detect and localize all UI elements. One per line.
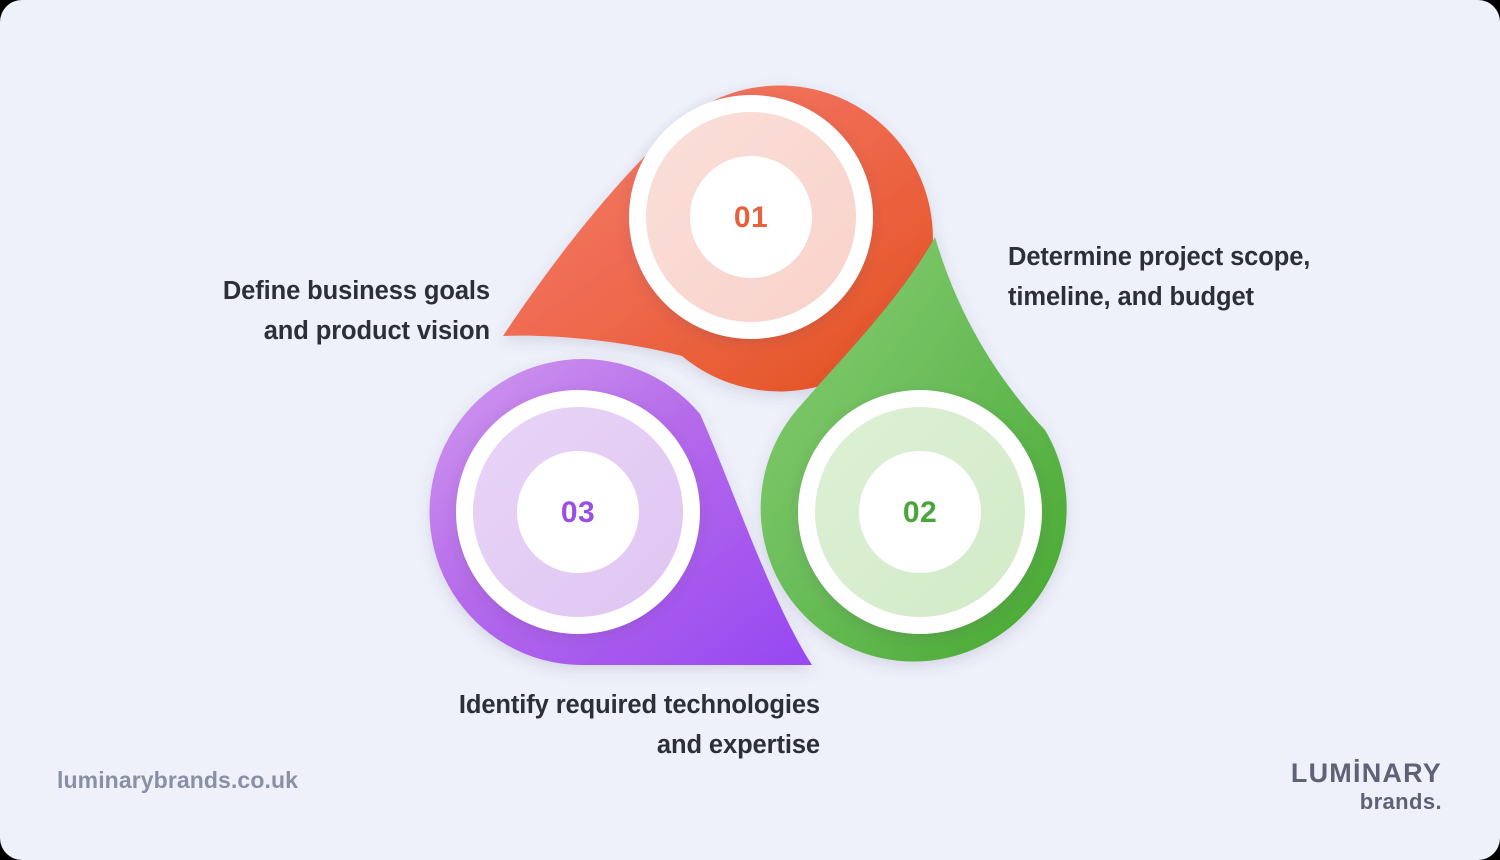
step-02-caption-line-2: timeline, and budget xyxy=(1008,278,1388,318)
step-01-caption-line-1: Define business goals xyxy=(150,272,490,312)
step-01-number: 01 xyxy=(681,201,821,235)
brand-logo-secondary: brands. xyxy=(1291,789,1442,814)
step-03-number: 03 xyxy=(508,496,648,530)
step-02-caption-line-1: Determine project scope, xyxy=(1008,238,1388,278)
infographic-canvas: 01 02 03 Define business goals and produ… xyxy=(0,0,1500,860)
step-03-caption: Identify required technologies and exper… xyxy=(400,686,820,765)
site-url[interactable]: luminarybrands.co.uk xyxy=(57,767,298,794)
brand-logo[interactable]: LUMİNARY brands. xyxy=(1291,760,1442,814)
step-01-caption-line-2: and product vision xyxy=(150,312,490,352)
step-03-caption-line-1: Identify required technologies xyxy=(400,686,820,726)
brand-logo-primary: LUMİNARY xyxy=(1291,760,1442,787)
step-02-number: 02 xyxy=(850,496,990,530)
step-02-caption: Determine project scope, timeline, and b… xyxy=(1008,238,1388,317)
step-01-caption: Define business goals and product vision xyxy=(150,272,490,351)
step-03-caption-line-2: and expertise xyxy=(400,726,820,766)
